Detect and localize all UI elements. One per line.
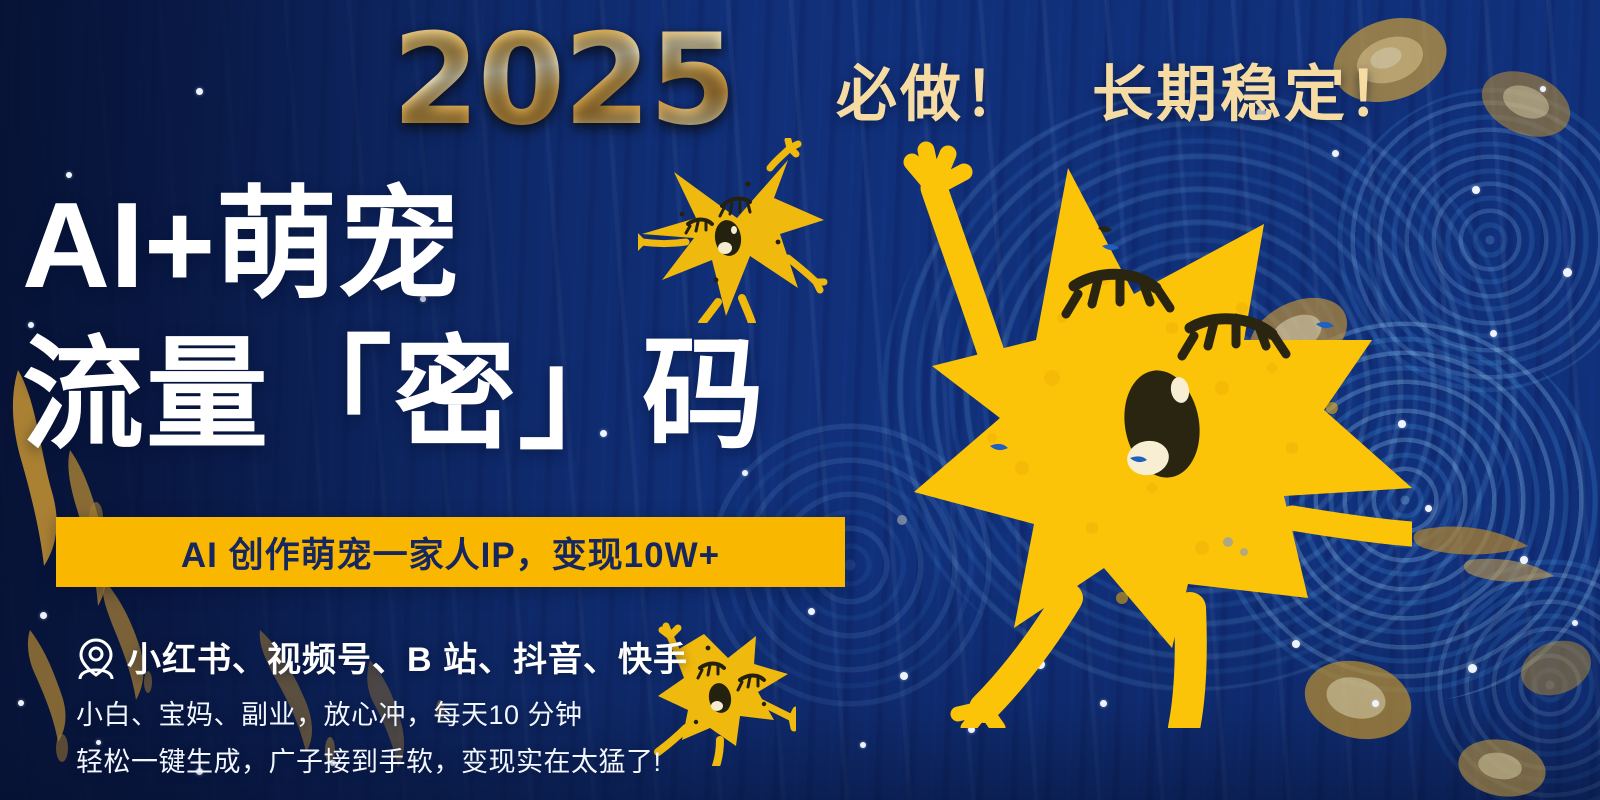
main-headline-line-2: 流量「密」码 [22,296,766,473]
subtitle-ribbon: AI 创作萌宠一家人IP，变现10W+ [56,517,845,587]
location-pin-icon [74,635,118,679]
platform-list-label: 小红书、视频号、B 站、抖音、快手 [127,632,688,681]
tagline-text: 必做！ 长期稳定！ [836,44,1412,133]
platform-list: 小红书、视频号、B 站、抖音、快手 [74,632,688,681]
benefit-line-2: 轻松一键生成，广子接到手软，变现实在太猛了! [76,740,662,779]
promotional-poster: 2025 必做！ 长期稳定！ AI+萌宠 流量「密」码 AI 创作萌宠一家人IP… [0,0,1600,800]
year-headline: 2025 [392,6,735,153]
subtitle-ribbon-label: AI 创作萌宠一家人IP，变现10W+ [181,527,720,578]
benefit-line-1: 小白、宝妈、副业，放心冲，每天10 分钟 [76,693,583,732]
